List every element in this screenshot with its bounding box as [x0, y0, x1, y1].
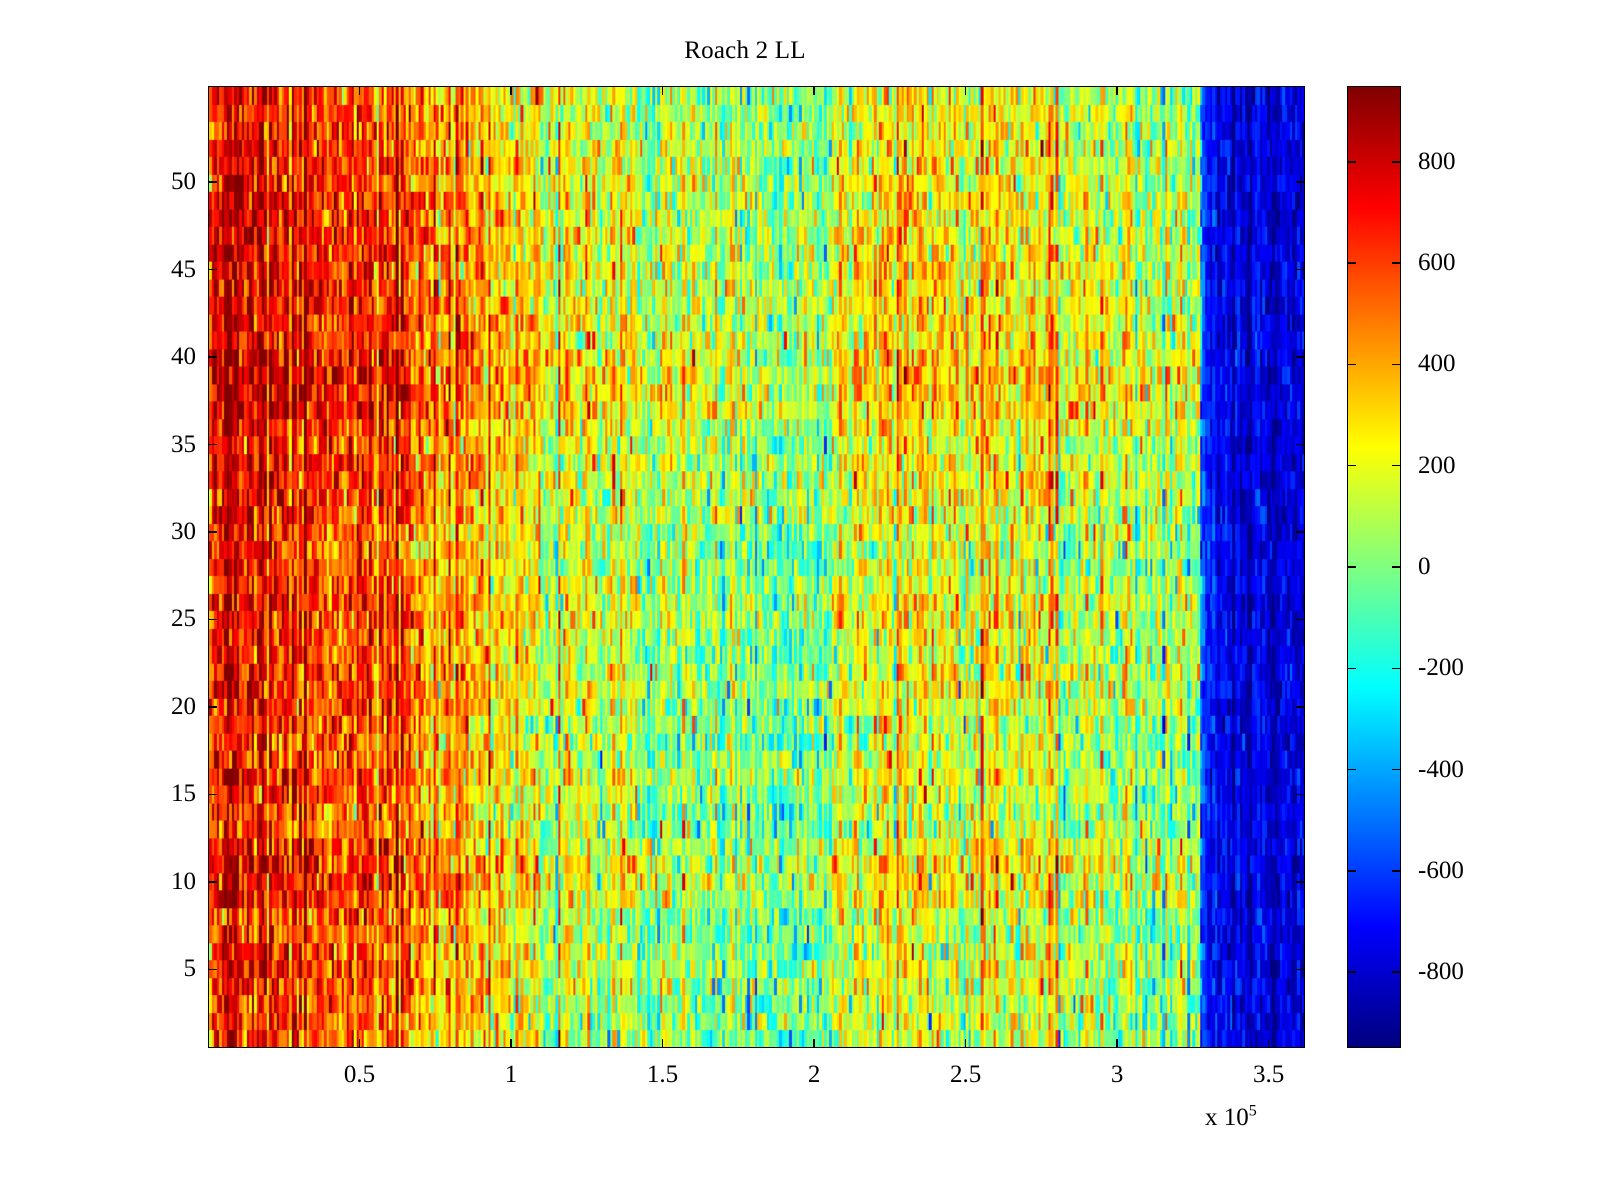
colorbar-tick-label: -400	[1418, 757, 1464, 782]
x-tick-mark	[813, 86, 815, 95]
colorbar-tick-mark	[1392, 566, 1401, 568]
colorbar-tick-mark	[1392, 668, 1401, 670]
x-tick-mark	[510, 1039, 512, 1048]
x-tick-mark	[1116, 86, 1118, 95]
colorbar-tick-label: -600	[1418, 858, 1464, 883]
x-tick-label: 2.5	[926, 1062, 1006, 1087]
colorbar-tick-mark	[1347, 262, 1356, 264]
y-tick-label: 40	[136, 344, 196, 369]
colorbar-tick-label: 800	[1418, 149, 1456, 174]
x-tick-mark	[813, 1039, 815, 1048]
colorbar-tick-mark	[1347, 465, 1356, 467]
x-tick-label: 2	[774, 1062, 854, 1087]
colorbar-tick-label: -200	[1418, 655, 1464, 680]
x-tick-mark	[1268, 86, 1270, 95]
y-tick-label: 45	[136, 257, 196, 282]
y-tick-label: 20	[136, 694, 196, 719]
y-tick-mark	[208, 356, 217, 358]
x-tick-mark	[359, 1039, 361, 1048]
colorbar-tick-mark	[1392, 971, 1401, 973]
y-tick-mark	[208, 531, 217, 533]
y-tick-mark	[208, 269, 217, 271]
x-tick-label: 1.5	[623, 1062, 703, 1087]
y-tick-mark	[208, 881, 217, 883]
y-tick-mark	[208, 969, 217, 971]
y-tick-mark	[1296, 181, 1305, 183]
colorbar-tick-mark	[1392, 870, 1401, 872]
exponent-power: 5	[1249, 1103, 1257, 1120]
y-tick-label: 30	[136, 519, 196, 544]
x-tick-mark	[662, 1039, 664, 1048]
x-tick-mark	[965, 1039, 967, 1048]
colorbar-tick-mark	[1347, 668, 1356, 670]
x-tick-mark	[662, 86, 664, 95]
x-tick-mark	[510, 86, 512, 95]
y-tick-mark	[1296, 531, 1305, 533]
heatmap-axes[interactable]	[208, 86, 1305, 1048]
exponent-mantissa: x 10	[1205, 1104, 1249, 1131]
matlab-figure: Roach 2 LL 5101520253035404550 0.511.522…	[0, 0, 1600, 1200]
y-tick-label: 25	[136, 606, 196, 631]
y-tick-mark	[1296, 881, 1305, 883]
colorbar-tick-mark	[1392, 465, 1401, 467]
y-tick-label: 15	[136, 781, 196, 806]
y-tick-label: 10	[136, 869, 196, 894]
colorbar-tick-label: 400	[1418, 351, 1456, 376]
y-tick-label: 50	[136, 169, 196, 194]
x-tick-mark	[1268, 1039, 1270, 1048]
x-tick-mark	[965, 86, 967, 95]
x-tick-label: 1	[471, 1062, 551, 1087]
colorbar-tick-mark	[1347, 971, 1356, 973]
y-tick-label: 35	[136, 432, 196, 457]
colorbar-tick-mark	[1392, 769, 1401, 771]
y-tick-mark	[208, 181, 217, 183]
x-tick-label: 3	[1077, 1062, 1157, 1087]
y-tick-mark	[1296, 794, 1305, 796]
y-tick-mark	[208, 706, 217, 708]
y-tick-mark	[208, 794, 217, 796]
y-tick-mark	[1296, 269, 1305, 271]
colorbar-tick-mark	[1392, 262, 1401, 264]
colorbar-tick-mark	[1392, 364, 1401, 366]
y-tick-mark	[1296, 619, 1305, 621]
colorbar-tick-mark	[1392, 161, 1401, 163]
y-tick-mark	[1296, 706, 1305, 708]
y-tick-mark	[1296, 444, 1305, 446]
colorbar-tick-label: 600	[1418, 250, 1456, 275]
colorbar-tick-mark	[1347, 870, 1356, 872]
y-tick-mark	[208, 619, 217, 621]
colorbar-tick-mark	[1347, 364, 1356, 366]
x-tick-mark	[359, 86, 361, 95]
colorbar-tick-mark	[1347, 161, 1356, 163]
colorbar-tick-label: 200	[1418, 453, 1456, 478]
y-tick-mark	[1296, 356, 1305, 358]
colorbar-tick-label: 0	[1418, 554, 1431, 579]
colorbar-tick-label: -800	[1418, 959, 1464, 984]
page-title: Roach 2 LL	[0, 36, 1490, 66]
x-tick-mark	[1116, 1039, 1118, 1048]
x-axis-exponent-label: x 105	[1205, 1105, 1257, 1131]
colorbar-tick-mark	[1347, 566, 1356, 568]
y-tick-label: 5	[136, 956, 196, 981]
y-tick-mark	[208, 444, 217, 446]
y-tick-mark	[1296, 969, 1305, 971]
x-tick-label: 3.5	[1229, 1062, 1309, 1087]
colorbar-tick-mark	[1347, 769, 1356, 771]
heatmap-image	[209, 87, 1304, 1047]
x-tick-label: 0.5	[320, 1062, 400, 1087]
